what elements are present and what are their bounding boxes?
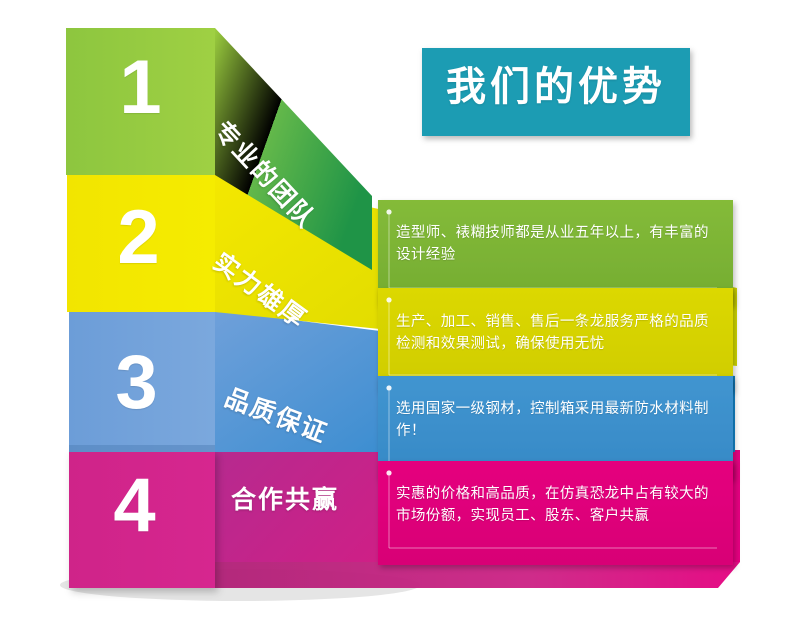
step-number-4: 4 (74, 468, 194, 544)
step-description-1: 造型师、裱糊技师都是从业五年以上，有丰富的设计经验 (396, 222, 716, 266)
step-description-3: 选用国家一级钢材，控制箱采用最新防水材料制作！ (396, 398, 716, 442)
step-label-4: 合作共赢 (231, 480, 339, 516)
step-number-2: 2 (78, 200, 198, 276)
step-number-1: 1 (80, 50, 200, 126)
step-description-2: 生产、加工、销售、售后一条龙服务严格的品质检测和效果测试，确保使用无忧 (396, 311, 716, 355)
step-number-3: 3 (76, 345, 196, 421)
step-description-4: 实惠的价格和高品质，在仿真恐龙中占有较大的市场份额，实现员工、股东、客户共赢 (396, 483, 716, 527)
infographic-canvas: 我们的优势 1 2 3 4 专业的团队 实力雄厚 品质保证 合作共赢 造型师、裱… (0, 0, 800, 622)
page-title: 我们的优势 (422, 56, 690, 118)
